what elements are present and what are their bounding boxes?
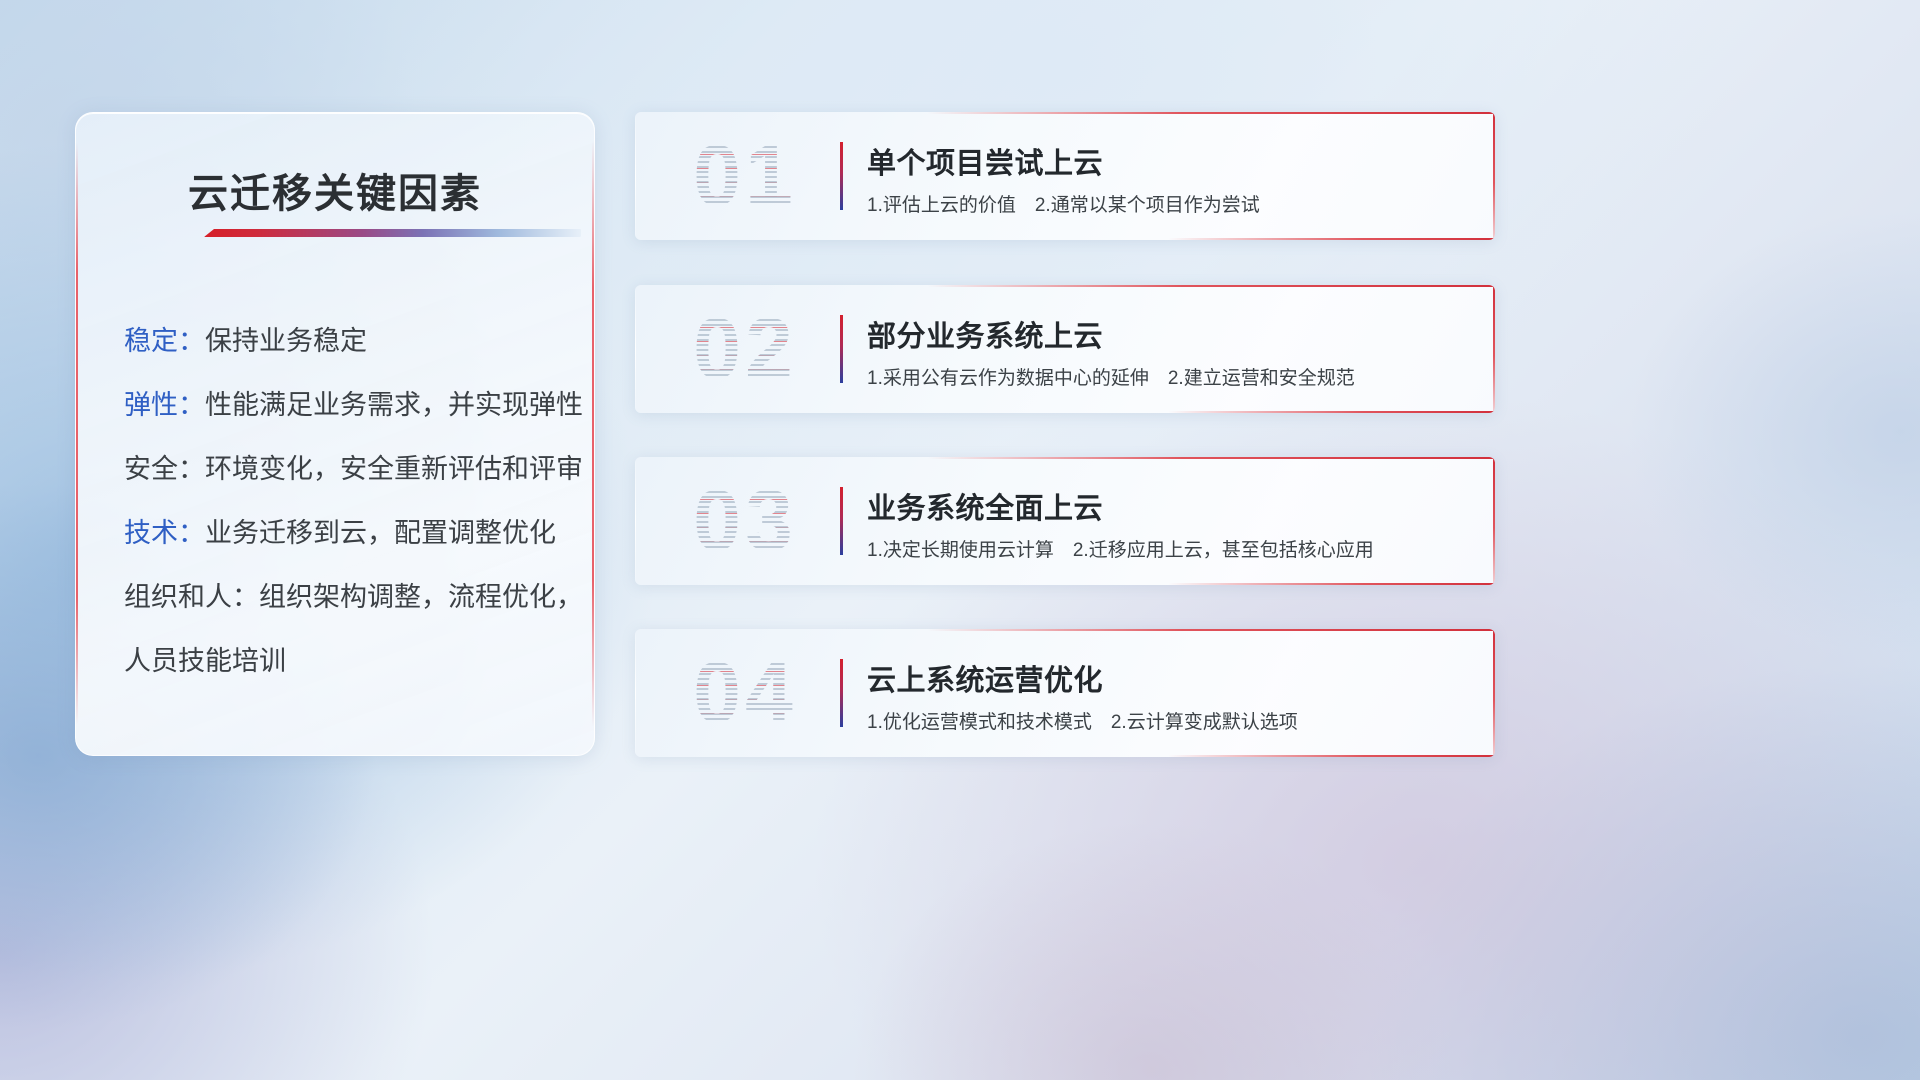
card-divider-bar [840,659,843,727]
card-accent-right [1493,112,1495,240]
card-accent-top [927,112,1495,114]
list-item: 组织和人：组织架构调整，流程优化， [124,565,566,629]
factor-label: 安全： [124,454,205,484]
key-factors-panel: 云迁移关键因素 稳定：保持业务稳定 弹性：性能满足业务需求，并实现弹性 安全：环… [75,112,595,756]
stage-title: 部分业务系统上云 [867,313,1103,355]
card-accent-bottom [1168,411,1495,413]
factor-text: 业务迁移到云，配置调整优化 [205,518,556,548]
stage-description: 1.采用公有云作为数据中心的延伸 2.建立运营和安全规范 [867,363,1355,390]
factor-label: 稳定： [124,326,205,356]
card-divider-bar [840,142,843,210]
card-accent-bottom [1168,238,1495,240]
stage-card-01[interactable]: 01 01 单个项目尝试上云 1.评估上云的价值 2.通常以某个项目作为尝试 [635,112,1495,240]
card-accent-right [1493,457,1495,585]
stage-description: 1.优化运营模式和技术模式 2.云计算变成默认选项 [867,707,1298,734]
factor-text: 环境变化，安全重新评估和评审 [205,454,583,484]
list-item: 稳定：保持业务稳定 [124,309,566,373]
card-accent-right [1493,629,1495,757]
stage-number: 03 [660,471,830,571]
card-accent-top [927,285,1495,287]
stage-card-03[interactable]: 03 03 业务系统全面上云 1.决定长期使用云计算 2.迁移应用上云，甚至包括… [635,457,1495,585]
factor-label: 技术： [124,518,205,548]
card-accent-bottom [1168,583,1495,585]
stage-number: 01 [660,126,830,226]
stage-title: 云上系统运营优化 [867,657,1103,699]
card-accent-top [927,629,1495,631]
factor-text: 组织架构调整，流程优化， [259,582,583,612]
card-highlight-left [635,112,636,240]
card-highlight-left [635,285,636,413]
stage-description: 1.决定长期使用云计算 2.迁移应用上云，甚至包括核心应用 [867,535,1374,562]
card-divider-bar [840,487,843,555]
card-highlight-left [635,629,636,757]
key-factors-list: 稳定：保持业务稳定 弹性：性能满足业务需求，并实现弹性 安全：环境变化，安全重新… [124,309,566,693]
card-accent-top [927,457,1495,459]
title-underline-accent [204,229,581,237]
list-item: 弹性：性能满足业务需求，并实现弹性 [124,373,566,437]
list-item: 安全：环境变化，安全重新评估和评审 [124,437,566,501]
factor-text: 性能满足业务需求，并实现弹性 [205,390,583,420]
slide-stage: 云迁移关键因素 稳定：保持业务稳定 弹性：性能满足业务需求，并实现弹性 安全：环… [0,0,1920,1080]
card-accent-bottom [1168,755,1495,757]
factor-text: 人员技能培训 [124,646,286,676]
stage-title: 单个项目尝试上云 [867,140,1103,182]
page-title: 云迁移关键因素 [76,161,594,219]
list-item: 技术：业务迁移到云，配置调整优化 [124,501,566,565]
stage-description: 1.评估上云的价值 2.通常以某个项目作为尝试 [867,190,1260,217]
stage-card-04[interactable]: 04 04 云上系统运营优化 1.优化运营模式和技术模式 2.云计算变成默认选项 [635,629,1495,757]
stage-title: 业务系统全面上云 [867,485,1103,527]
stage-card-02[interactable]: 02 02 部分业务系统上云 1.采用公有云作为数据中心的延伸 2.建立运营和安… [635,285,1495,413]
factor-label: 弹性： [124,390,205,420]
stage-number: 02 [660,299,830,399]
list-item: 人员技能培训 [124,629,566,693]
stage-number: 04 [660,643,830,743]
factor-text: 保持业务稳定 [205,326,367,356]
card-accent-right [1493,285,1495,413]
card-highlight-left [635,457,636,585]
factor-label: 组织和人： [124,582,259,612]
card-divider-bar [840,315,843,383]
